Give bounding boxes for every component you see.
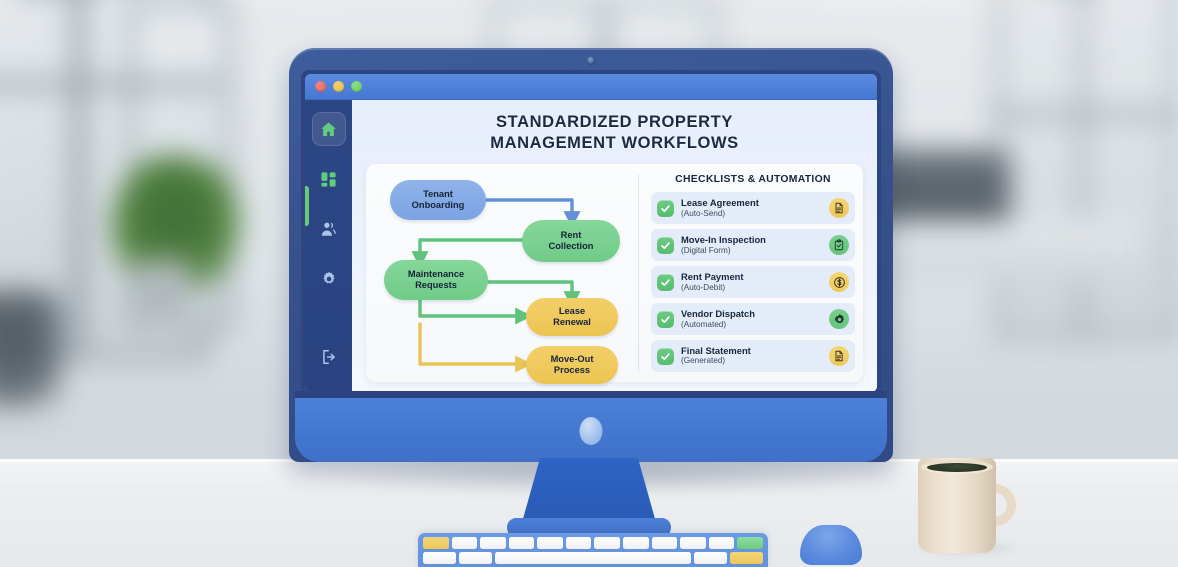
checkbox-checked[interactable] [657, 348, 674, 365]
page-title-line-2: MANAGEMENT WORKFLOWS [366, 133, 863, 154]
space-key[interactable] [495, 552, 692, 564]
dollar-coin-icon [829, 272, 849, 292]
key[interactable] [730, 552, 763, 564]
maximize-button[interactable] [351, 81, 362, 92]
browser-window: STANDARDIZED PROPERTY MANAGEMENT WORKFLO… [305, 74, 877, 392]
checklist-rows: Lease Agreement (Auto-Send) [651, 192, 855, 372]
key[interactable] [737, 537, 763, 549]
window-titlebar [305, 74, 877, 100]
checklist-item[interactable]: Lease Agreement (Auto-Send) [651, 192, 855, 224]
flow-node-label: Requests [408, 280, 464, 291]
minimize-button[interactable] [333, 81, 344, 92]
close-button[interactable] [315, 81, 326, 92]
key[interactable] [509, 537, 535, 549]
active-indicator [305, 186, 309, 226]
gear-icon [829, 309, 849, 329]
flow-node-label: Rent [549, 230, 594, 241]
monitor-chin [295, 398, 887, 462]
plant-pot [136, 260, 190, 330]
keyboard-row [423, 537, 763, 549]
sidebar [305, 100, 352, 392]
sidebar-item-dashboard[interactable] [312, 162, 346, 196]
gear-icon [320, 270, 338, 288]
flow-node-label: Renewal [553, 317, 591, 328]
key[interactable] [680, 537, 706, 549]
checklist-item-text: Move-In Inspection (Digital Form) [681, 235, 822, 256]
checklist-item-sub: (Digital Form) [681, 246, 822, 256]
page-title-line-1: STANDARDIZED PROPERTY [366, 112, 863, 133]
flow-node-label: Onboarding [412, 200, 465, 211]
checklist-item-text: Lease Agreement (Auto-Send) [681, 198, 822, 219]
mouse[interactable] [800, 525, 862, 565]
checklist-panel: CHECKLISTS & AUTOMATION Lease Agreement … [638, 174, 855, 372]
home-icon [319, 120, 338, 139]
sidebar-item-tenants[interactable] [312, 212, 346, 246]
checklist-item-text: Vendor Dispatch (Automated) [681, 309, 822, 330]
checklist-item[interactable]: Rent Payment (Auto-Debit) [651, 266, 855, 298]
key[interactable] [480, 537, 506, 549]
monitor: STANDARDIZED PROPERTY MANAGEMENT WORKFLO… [289, 48, 893, 462]
key[interactable] [694, 552, 727, 564]
clipboard-check-icon [829, 235, 849, 255]
key[interactable] [423, 552, 456, 564]
checklist-item-text: Rent Payment (Auto-Debit) [681, 272, 822, 293]
sidebar-item-logout[interactable] [312, 340, 346, 374]
key[interactable] [594, 537, 620, 549]
checklist-item[interactable]: Vendor Dispatch (Automated) [651, 303, 855, 335]
checkbox-checked[interactable] [657, 200, 674, 217]
checklist-title: CHECKLISTS & AUTOMATION [651, 174, 855, 185]
window-body: STANDARDIZED PROPERTY MANAGEMENT WORKFLO… [305, 100, 877, 392]
flow-node-lease-renewal[interactable]: Lease Renewal [526, 298, 618, 336]
webcam-icon [587, 56, 596, 65]
flow-node-tenant-onboarding[interactable]: Tenant Onboarding [390, 180, 486, 220]
checklist-item[interactable]: Move-In Inspection (Digital Form) [651, 229, 855, 261]
bezel-divider [295, 391, 887, 398]
checklist-item-sub: (Automated) [681, 320, 822, 330]
flow-node-rent-collection[interactable]: Rent Collection [522, 220, 620, 262]
checklist-item-label: Rent Payment [681, 272, 822, 283]
key[interactable] [459, 552, 492, 564]
checklist-item-sub: (Auto-Debit) [681, 283, 822, 293]
workflow-flowchart: Tenant Onboarding Rent Collection [376, 174, 638, 372]
key[interactable] [623, 537, 649, 549]
key[interactable] [709, 537, 735, 549]
grid-icon [320, 171, 337, 188]
document-icon [829, 198, 849, 218]
flow-node-label: Lease [553, 306, 591, 317]
flow-node-maintenance-requests[interactable]: Maintenance Requests [384, 260, 488, 300]
checklist-item-label: Final Statement [681, 346, 822, 357]
checklist-item-sub: (Generated) [681, 356, 822, 366]
keyboard-row [423, 552, 763, 564]
checklist-item[interactable]: Final Statement (Generated) [651, 340, 855, 372]
office-chair [0, 290, 62, 410]
page-title: STANDARDIZED PROPERTY MANAGEMENT WORKFLO… [366, 112, 863, 154]
coffee-mug [918, 458, 1010, 553]
sidebar-item-settings[interactable] [312, 262, 346, 296]
checklist-item-text: Final Statement (Generated) [681, 346, 822, 367]
users-icon [320, 220, 338, 238]
monitor-stand-neck [521, 458, 657, 526]
checkbox-checked[interactable] [657, 237, 674, 254]
sidebar-item-home[interactable] [312, 112, 346, 146]
flow-node-label: Process [551, 365, 594, 376]
window-mullion [990, 110, 1178, 119]
main-content: STANDARDIZED PROPERTY MANAGEMENT WORKFLO… [352, 100, 877, 392]
coffee-surface [927, 463, 987, 472]
scene: STANDARDIZED PROPERTY MANAGEMENT WORKFLO… [0, 0, 1178, 567]
checklist-item-label: Vendor Dispatch [681, 309, 822, 320]
checklist-item-label: Move-In Inspection [681, 235, 822, 246]
key[interactable] [652, 537, 678, 549]
checklist-item-sub: (Auto-Send) [681, 209, 822, 219]
logout-icon [320, 348, 338, 366]
power-indicator [580, 417, 603, 445]
key[interactable] [537, 537, 563, 549]
checkbox-checked[interactable] [657, 274, 674, 291]
workflow-card: Tenant Onboarding Rent Collection [366, 164, 863, 382]
window-mullion [0, 80, 220, 89]
flow-node-move-out-process[interactable]: Move-Out Process [526, 346, 618, 384]
window-pane [1078, 0, 1178, 340]
key[interactable] [452, 537, 478, 549]
flow-node-label: Collection [549, 241, 594, 252]
flow-node-label: Move-Out [551, 354, 594, 365]
checklist-item-label: Lease Agreement [681, 198, 822, 209]
flow-node-label: Maintenance [408, 269, 464, 280]
window-light [720, 0, 1100, 10]
flow-node-label: Tenant [412, 189, 465, 200]
checkbox-checked[interactable] [657, 311, 674, 328]
keyboard-rows [423, 537, 763, 564]
document-icon [829, 346, 849, 366]
key[interactable] [566, 537, 592, 549]
keyboard[interactable] [418, 533, 768, 567]
key[interactable] [423, 537, 449, 549]
